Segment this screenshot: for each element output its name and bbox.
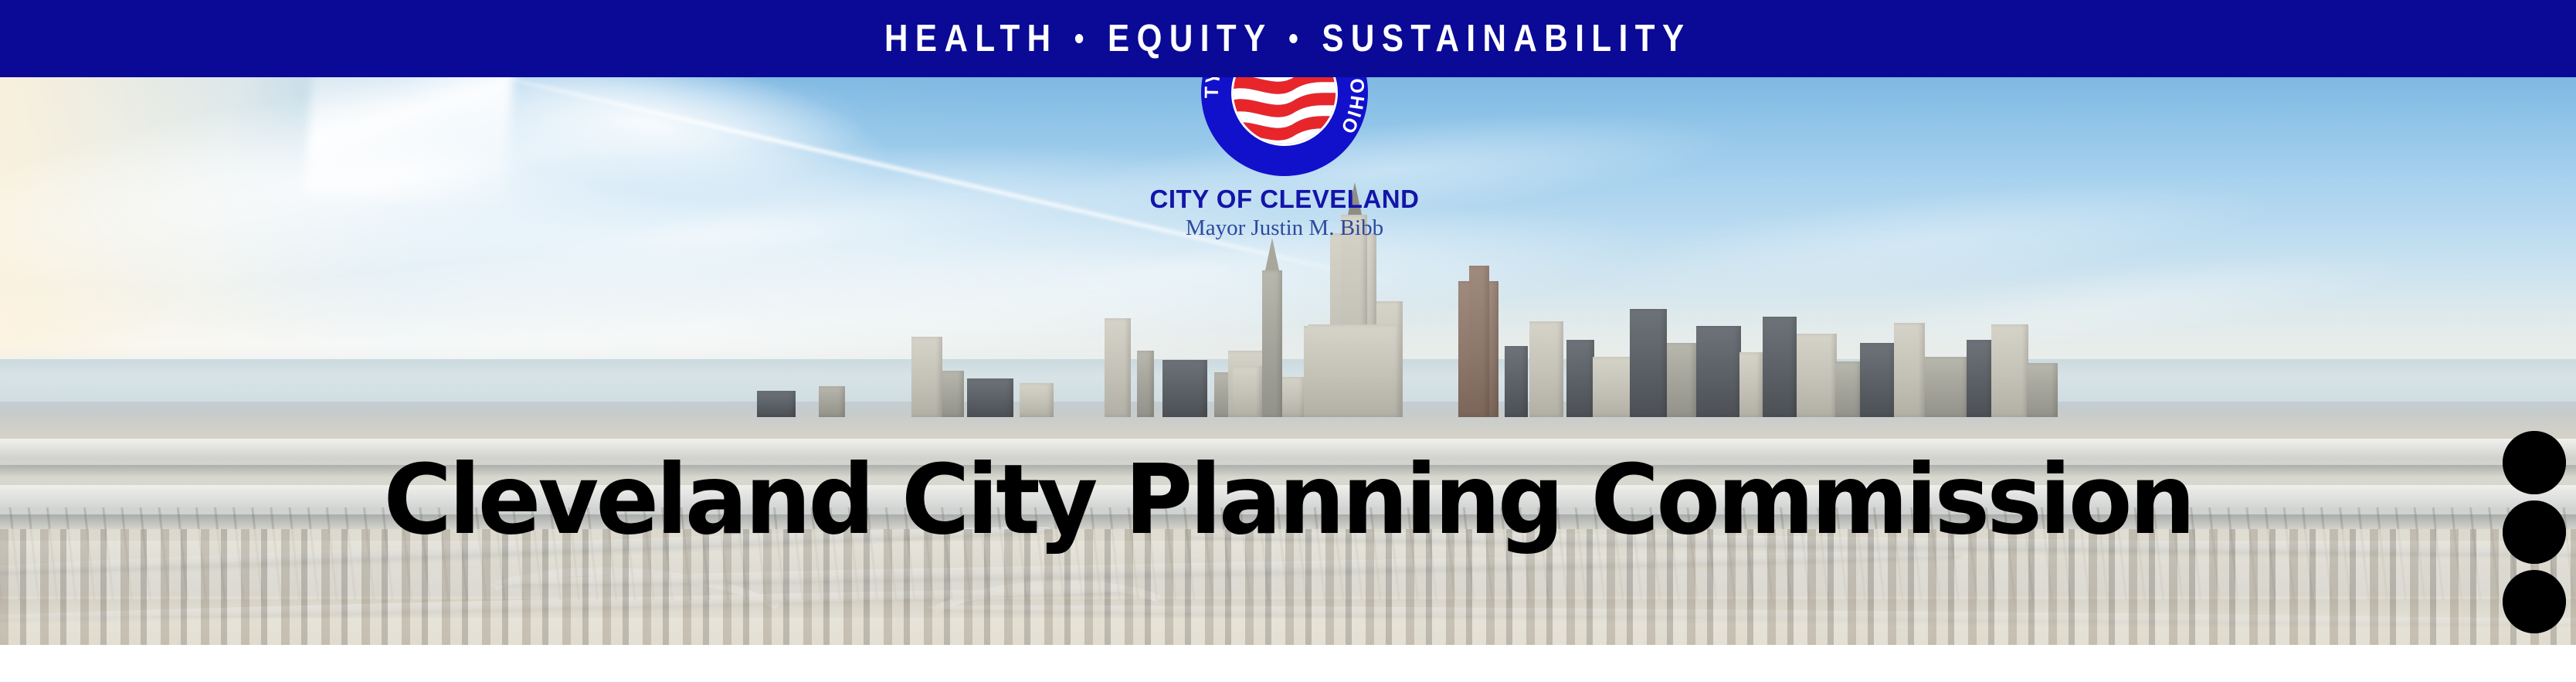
tagline-separator-2: • <box>1288 20 1305 56</box>
contrail <box>304 77 514 208</box>
cleveland-city-planning-commission-banner: HEALTH • EQUITY • SUSTAINABILITY <box>0 0 2576 682</box>
tagline-word-sustainability: SUSTAINABILITY <box>1322 18 1692 59</box>
tagline-text: HEALTH • EQUITY • SUSTAINABILITY <box>884 20 1691 58</box>
youtube-icon[interactable] <box>2503 431 2566 494</box>
tagline-word-equity: EQUITY <box>1108 18 1272 59</box>
social-links <box>2502 431 2567 633</box>
city-ground <box>0 402 2576 645</box>
facebook-icon[interactable] <box>2503 570 2566 633</box>
tagline-word-health: HEALTH <box>884 18 1058 59</box>
instagram-icon[interactable] <box>2503 500 2566 564</box>
tagline-bar: HEALTH • EQUITY • SUSTAINABILITY <box>0 0 2576 77</box>
bottom-whitespace <box>0 645 2576 682</box>
tagline-separator-1: • <box>1074 20 1091 56</box>
org-name: CITY OF CLEVELAND <box>1115 186 1454 213</box>
mayor-name: Mayor Justin M. Bibb <box>1115 216 1454 241</box>
